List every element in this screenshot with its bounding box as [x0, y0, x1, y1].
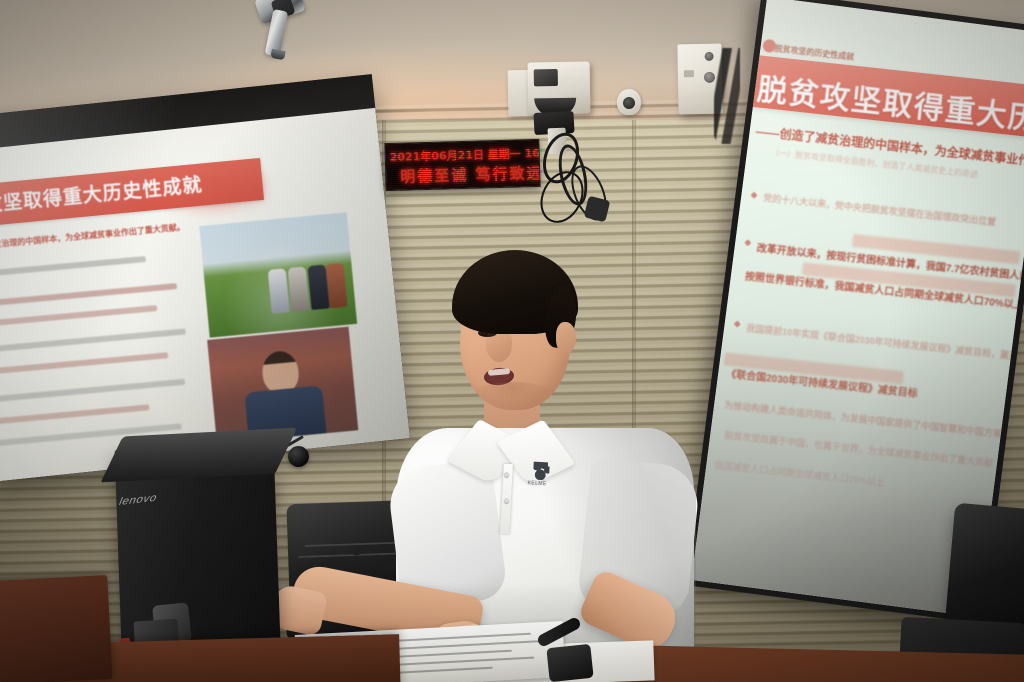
ear — [556, 322, 576, 354]
camera-lens-plate — [534, 69, 558, 86]
left-projection-screen: 脱贫攻坚取得重大历史性成就 创造了减贫治理的中国样本，为全球减贫事业作出了重大贡… — [0, 74, 410, 482]
led-clock-sign: 2021年06月21日 星期一 16:10:44 明德至诚 笃行致远 — [384, 139, 540, 191]
camera-wiring — [540, 130, 638, 232]
chin-shading — [472, 382, 554, 408]
speaker-label — [684, 70, 694, 77]
spotlight-tip — [270, 49, 285, 61]
left-screen-gloss — [0, 74, 410, 482]
cable-bundle — [714, 48, 740, 144]
shirt-brand-text: KELME — [527, 480, 546, 487]
microphone-secondary-base — [546, 644, 593, 682]
surveillance-camera-icon — [528, 61, 591, 114]
speaker-grill — [705, 52, 714, 61]
shirt-button — [504, 498, 509, 503]
secondary-camera-icon — [617, 89, 641, 115]
kelme-paw-icon — [533, 462, 550, 481]
chair-right-back — [945, 503, 1024, 630]
photo-scene: 脱贫攻坚取得重大历史性成就 创造了减贫治理的中国样本，为全球减贫事业作出了重大贡… — [0, 0, 1024, 682]
shirt-button — [504, 472, 509, 477]
spotlight-icon — [243, 0, 317, 66]
led-motto-line: 明德至诚 笃行致远 — [400, 162, 541, 187]
shirt-brand-logo: KELME — [527, 461, 555, 492]
presenter: KELME — [398, 250, 698, 682]
camera-lens — [623, 97, 635, 109]
podium-left-panel — [0, 575, 113, 682]
